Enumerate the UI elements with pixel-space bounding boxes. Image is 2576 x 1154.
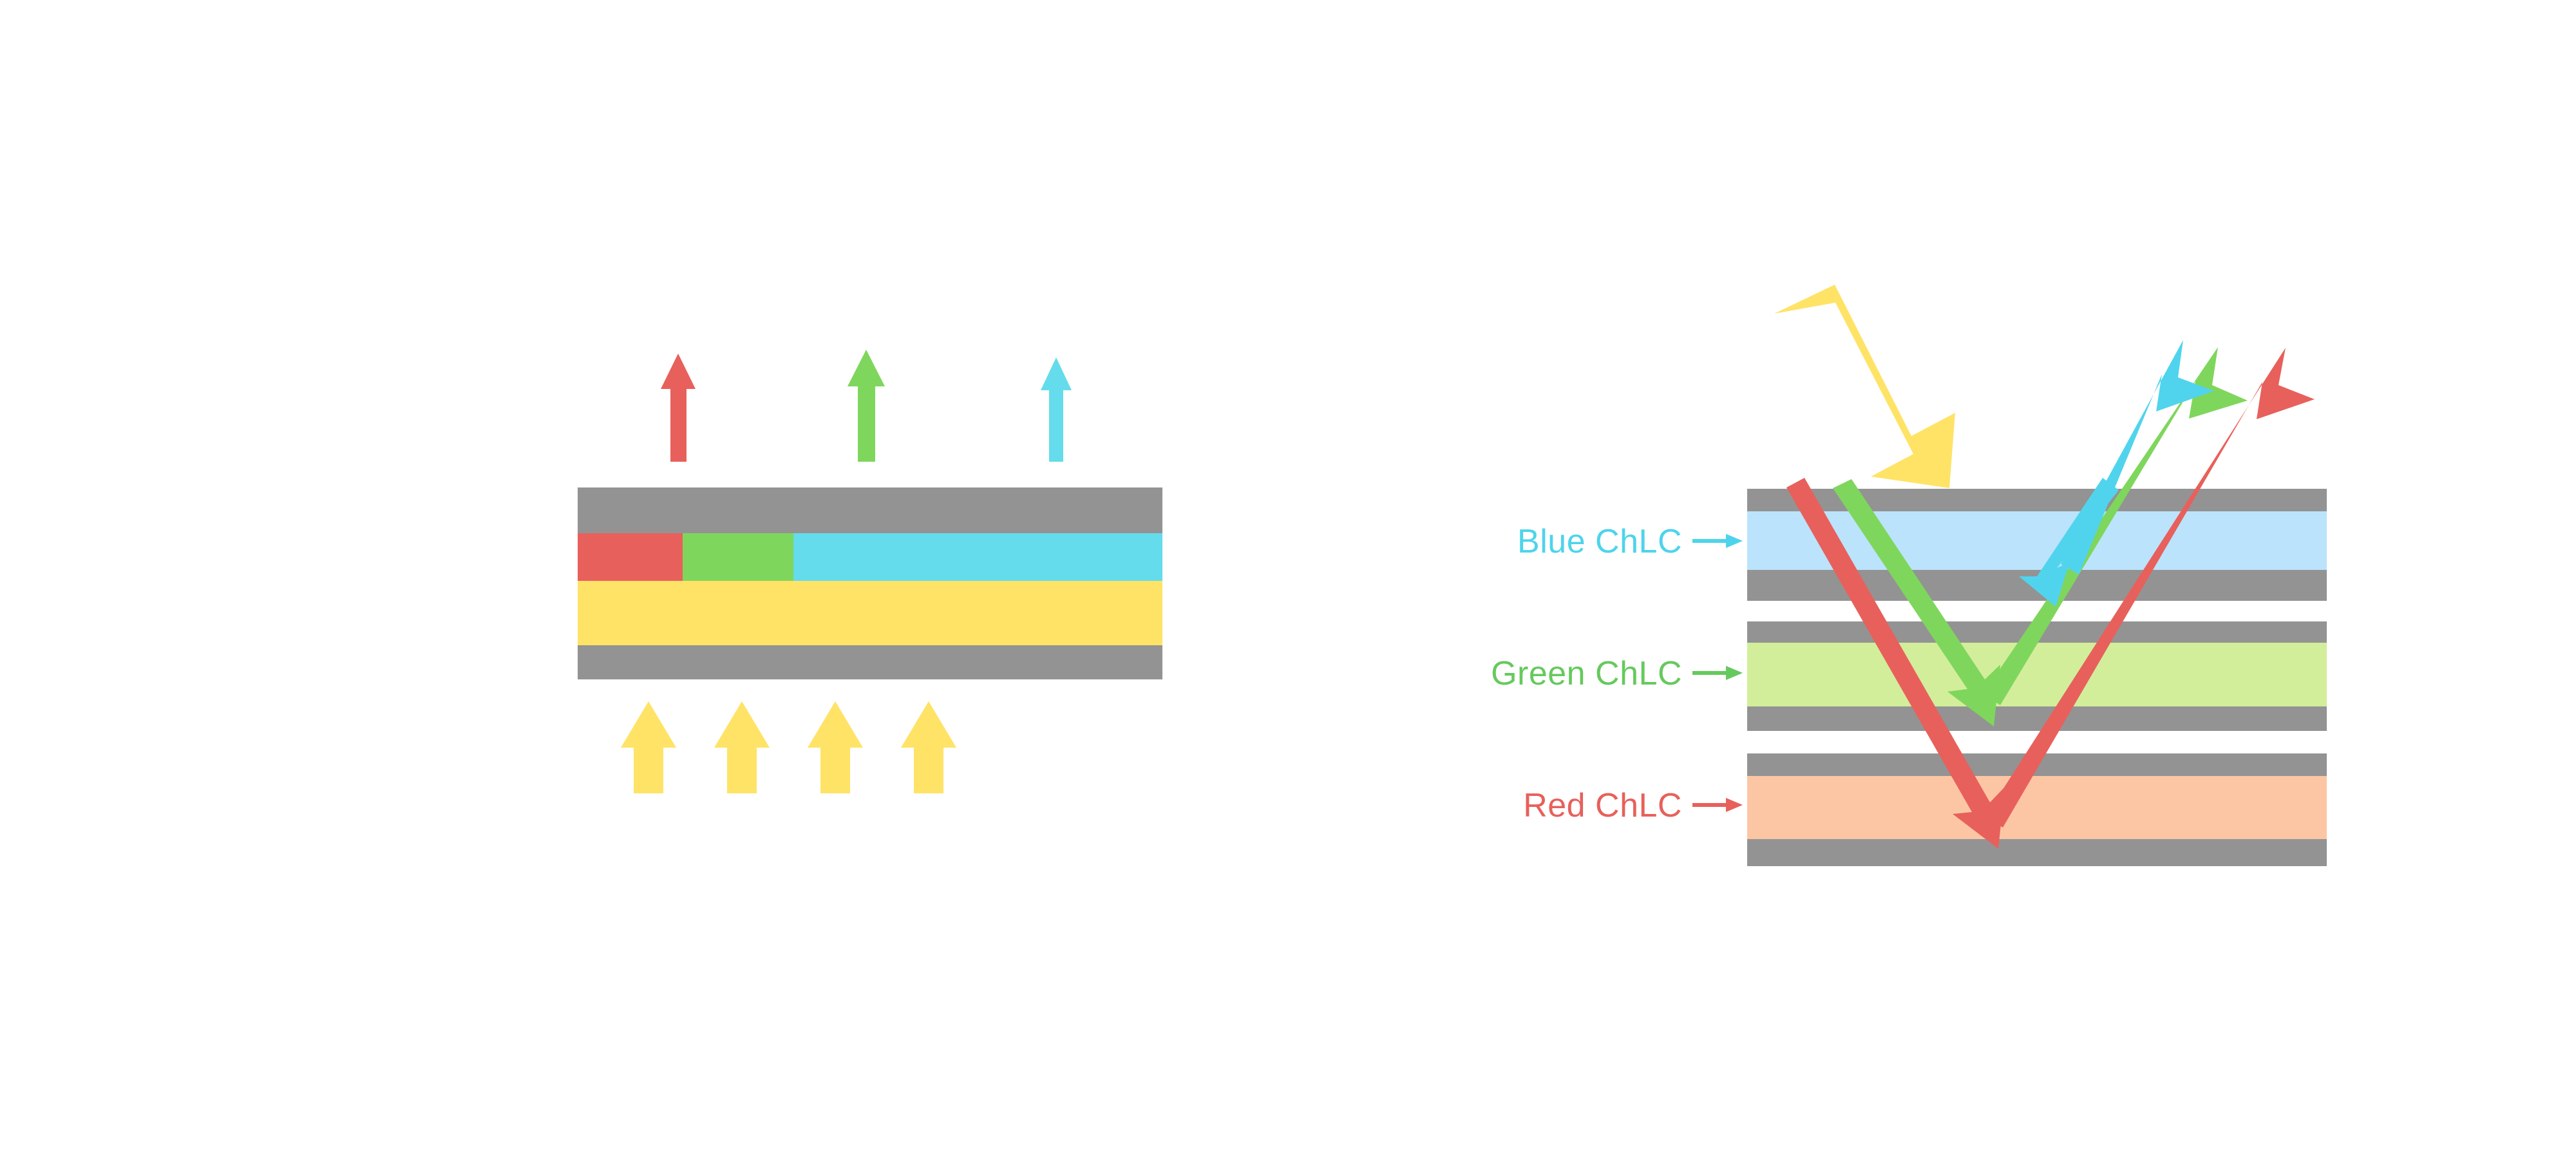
diagram-svg: Blue ChLC Green ChLC Red ChLC	[0, 0, 2576, 1154]
right-panel: Blue ChLC Green ChLC Red ChLC	[1491, 285, 2327, 866]
left-output-arrows	[661, 350, 1072, 462]
backlight-arrow-3	[808, 701, 863, 793]
green-filter-segment	[683, 533, 793, 581]
red-output-arrow	[661, 354, 696, 462]
green-output-arrow	[848, 350, 885, 462]
red-filter-segment	[578, 533, 683, 581]
blue-cell-top-electrode	[1747, 489, 2327, 511]
left-stack	[578, 487, 1162, 679]
blue-filter-segment	[793, 533, 1162, 581]
blue-output-arrow	[1041, 357, 1072, 462]
figure-canvas: Blue ChLC Green ChLC Red ChLC	[0, 0, 2576, 1154]
green-chlc-body	[1747, 643, 2327, 706]
red-cell-bottom-electrode	[1747, 839, 2327, 866]
backlight-arrow-2	[714, 701, 770, 793]
blue-chlc-label-arrow	[1692, 534, 1743, 548]
red-chlc-body	[1747, 776, 2327, 839]
backlight-layer	[578, 581, 1162, 645]
chlc-labels: Blue ChLC Green ChLC Red ChLC	[1491, 523, 1743, 824]
left-top-electrode	[578, 487, 1162, 533]
red-chlc-label-arrow	[1692, 798, 1743, 812]
backlight-input-arrows	[621, 701, 956, 793]
white-light-incident-arrow	[1774, 285, 1955, 488]
red-chlc-cell	[1747, 753, 2327, 866]
green-chlc-label: Green ChLC	[1491, 655, 1682, 692]
green-cell-bottom-electrode	[1747, 706, 2327, 731]
left-bottom-electrode	[578, 645, 1162, 679]
green-chlc-label-arrow	[1692, 666, 1743, 680]
left-panel	[578, 350, 1162, 793]
red-chlc-label: Red ChLC	[1523, 787, 1682, 824]
blue-chlc-label: Blue ChLC	[1517, 523, 1682, 560]
backlight-arrow-4	[901, 701, 956, 793]
backlight-arrow-1	[621, 701, 676, 793]
